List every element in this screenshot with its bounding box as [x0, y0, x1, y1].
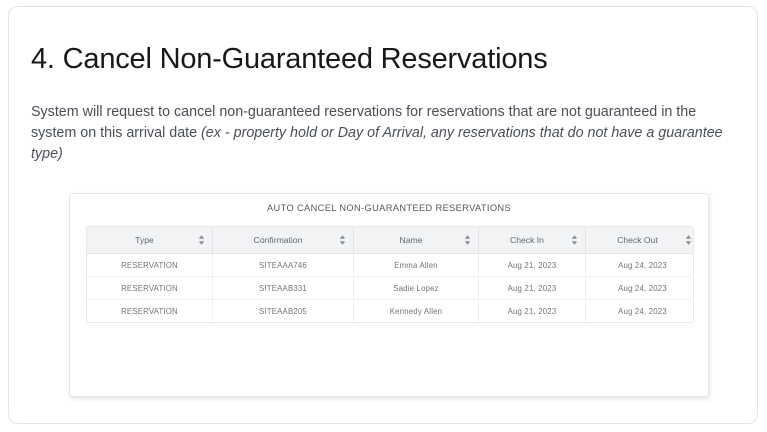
column-header-name[interactable]: Name [354, 227, 479, 254]
column-header-type[interactable]: Type [87, 227, 213, 254]
cell-check-out: Aug 24, 2023 [586, 277, 695, 300]
sort-updown-icon[interactable] [339, 235, 346, 246]
cell-check-out: Aug 24, 2023 [586, 254, 695, 277]
page-title: 4. Cancel Non-Guaranteed Reservations [31, 43, 548, 76]
reservations-panel: AUTO CANCEL NON-GUARANTEED RESERVATIONS … [69, 193, 709, 397]
cell-confirmation: SITEAAA746 [213, 254, 354, 277]
cell-check-in: Aug 21, 2023 [479, 300, 586, 323]
column-header-label: Type [135, 235, 154, 245]
cell-type: RESERVATION [87, 254, 213, 277]
column-header-confirmation[interactable]: Confirmation [213, 227, 354, 254]
table-header-row: Type Confirmation [87, 227, 694, 254]
slide-canvas: 4. Cancel Non-Guaranteed Reservations Sy… [8, 6, 758, 424]
sort-updown-icon[interactable] [464, 235, 471, 246]
column-header-check-out[interactable]: Check Out [586, 227, 695, 254]
column-header-label: Check In [510, 235, 544, 245]
column-header-label: Confirmation [254, 235, 303, 245]
column-header-label: Check Out [617, 235, 658, 245]
table-row[interactable]: RESERVATION SITEAAB331 Sadie Lopez Aug 2… [87, 277, 694, 300]
table-row[interactable]: RESERVATION SITEAAA746 Emma Allen Aug 21… [87, 254, 694, 277]
cell-type: RESERVATION [87, 277, 213, 300]
cell-confirmation: SITEAAB331 [213, 277, 354, 300]
cell-name: Emma Allen [354, 254, 479, 277]
cell-check-in: Aug 21, 2023 [479, 254, 586, 277]
cell-type: RESERVATION [87, 300, 213, 323]
cell-name: Sadie Lopez [354, 277, 479, 300]
cell-name: Kennedy Allen [354, 300, 479, 323]
column-header-check-in[interactable]: Check In [479, 227, 586, 254]
cell-confirmation: SITEAAB205 [213, 300, 354, 323]
table-row[interactable]: RESERVATION SITEAAB205 Kennedy Allen Aug… [87, 300, 694, 323]
reservations-table: Type Confirmation [87, 227, 694, 322]
sort-updown-icon[interactable] [685, 235, 692, 246]
column-header-label: Name [400, 235, 423, 245]
cell-check-in: Aug 21, 2023 [479, 277, 586, 300]
sort-updown-icon[interactable] [571, 235, 578, 246]
description-paragraph: System will request to cancel non-guaran… [31, 102, 741, 165]
reservations-table-container: Type Confirmation [86, 226, 694, 323]
sort-updown-icon[interactable] [198, 235, 205, 246]
cell-check-out: Aug 24, 2023 [586, 300, 695, 323]
panel-caption: AUTO CANCEL NON-GUARANTEED RESERVATIONS [70, 203, 708, 213]
